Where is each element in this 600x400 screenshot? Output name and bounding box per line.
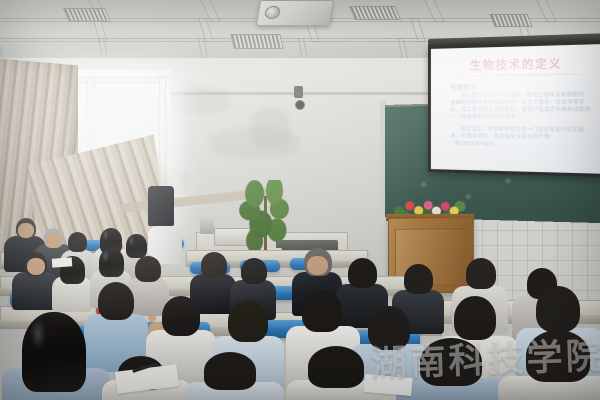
ceiling-projector xyxy=(256,0,334,26)
hair xyxy=(99,248,124,277)
head xyxy=(204,352,256,390)
head xyxy=(404,264,433,294)
head xyxy=(536,286,580,332)
head xyxy=(201,252,227,278)
projector-lens xyxy=(264,6,281,19)
head xyxy=(466,258,496,289)
face xyxy=(27,258,45,275)
wall-camera-icon xyxy=(294,86,303,98)
head xyxy=(68,232,87,252)
wall-camera-lens-icon xyxy=(295,100,305,110)
head xyxy=(420,338,482,386)
hair xyxy=(22,312,86,392)
face xyxy=(46,233,62,248)
head xyxy=(162,296,200,336)
head xyxy=(135,256,161,282)
head xyxy=(368,306,410,350)
potted-plant xyxy=(236,180,298,256)
head xyxy=(348,258,377,288)
head xyxy=(454,296,496,340)
thermos-flask xyxy=(200,216,214,234)
face xyxy=(18,223,34,238)
head xyxy=(241,258,267,284)
slide-glare xyxy=(431,44,600,174)
head xyxy=(228,300,268,342)
hair xyxy=(126,234,147,258)
presentation-slide: 生物技术的定义 生物技术： 是以现代生命科学为基础，利用生物体及其细胞的、亚细胞… xyxy=(431,44,600,174)
notebook xyxy=(52,257,73,267)
face xyxy=(307,256,328,275)
screen-border: 生物技术的定义 生物技术： 是以现代生命科学为基础，利用生物体及其细胞的、亚细胞… xyxy=(428,41,600,178)
head xyxy=(526,330,590,382)
head xyxy=(98,282,134,320)
head xyxy=(308,346,364,388)
lecture-hall-photo: 生物技术的定义 生物技术： 是以现代生命科学为基础，利用生物体及其细胞的、亚细胞… xyxy=(0,0,600,400)
head xyxy=(302,290,342,332)
projection-screen: 生物技术的定义 生物技术： 是以现代生命科学为基础，利用生物体及其细胞的、亚细胞… xyxy=(428,41,600,180)
presenter-trousers xyxy=(148,186,174,226)
